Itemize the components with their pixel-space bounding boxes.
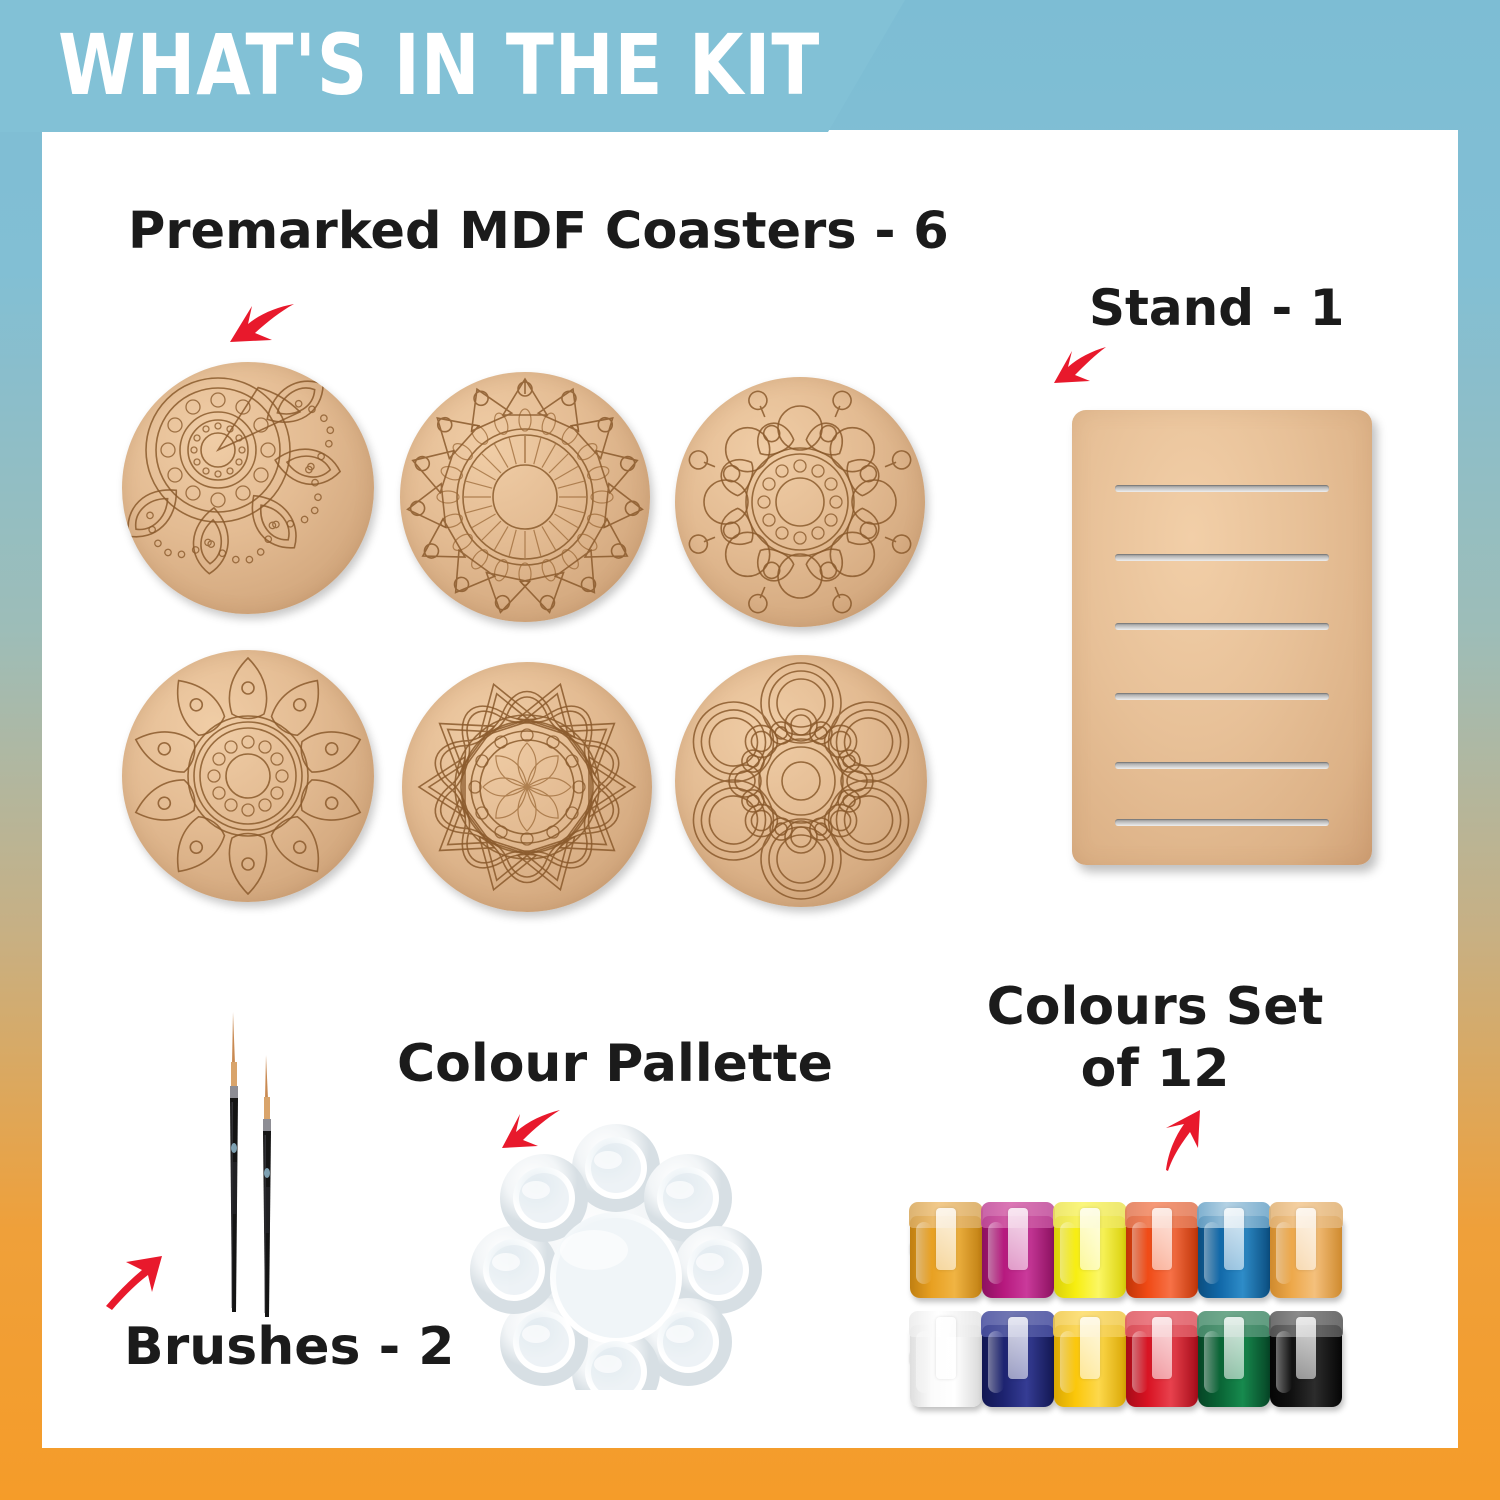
brush-item bbox=[255, 1055, 279, 1328]
pot-gloss bbox=[1132, 1331, 1148, 1393]
paint-pot-row-2 bbox=[910, 1303, 1340, 1413]
pot-tab bbox=[1080, 1317, 1100, 1379]
coaster-engraving-1 bbox=[122, 362, 374, 614]
pot-gloss bbox=[916, 1331, 932, 1393]
pot-tab bbox=[1296, 1208, 1316, 1270]
stand-slot bbox=[1115, 762, 1329, 769]
stand-arrow-icon bbox=[1050, 345, 1108, 393]
pot-tab bbox=[1224, 1208, 1244, 1270]
pot-tab bbox=[1224, 1317, 1244, 1379]
stand-slot bbox=[1115, 623, 1329, 630]
paint-pot bbox=[1270, 1311, 1342, 1407]
paint-pot bbox=[1126, 1202, 1198, 1298]
pot-gloss bbox=[1276, 1222, 1292, 1284]
brush-item bbox=[222, 1012, 246, 1325]
pot-gloss bbox=[1060, 1222, 1076, 1284]
coaster-item bbox=[400, 372, 650, 622]
pot-tab bbox=[1080, 1208, 1100, 1270]
pot-gloss bbox=[1132, 1222, 1148, 1284]
coaster-engraving-2 bbox=[400, 372, 650, 622]
brush-2-icon bbox=[255, 1055, 279, 1323]
brush-1-icon bbox=[222, 1012, 246, 1320]
coasters-arrow-icon bbox=[222, 300, 296, 354]
pot-gloss bbox=[988, 1222, 1004, 1284]
palette-label: Colour Pallette bbox=[397, 1037, 833, 1092]
stand-slot bbox=[1115, 485, 1329, 492]
colours-label-line1: Colours Set bbox=[985, 980, 1325, 1035]
pot-gloss bbox=[1060, 1331, 1076, 1393]
coaster-item bbox=[122, 650, 374, 902]
paint-pot bbox=[1054, 1311, 1126, 1407]
stand-label: Stand - 1 bbox=[1089, 282, 1344, 335]
pot-gloss bbox=[1204, 1222, 1220, 1284]
header-banner: WHAT'S IN THE KIT bbox=[0, 0, 905, 132]
paint-pot bbox=[982, 1202, 1054, 1298]
poster-root: WHAT'S IN THE KIT Premarked MDF Coasters… bbox=[0, 0, 1500, 1500]
colours-label-line2: of 12 bbox=[985, 1042, 1325, 1097]
page-title: WHAT'S IN THE KIT bbox=[58, 16, 820, 114]
coaster-item bbox=[122, 362, 374, 614]
pot-gloss bbox=[1204, 1331, 1220, 1393]
pot-tab bbox=[1296, 1317, 1316, 1379]
paint-pot bbox=[1126, 1311, 1198, 1407]
pot-gloss bbox=[988, 1331, 1004, 1393]
paint-pot bbox=[1198, 1202, 1270, 1298]
pot-gloss bbox=[916, 1222, 932, 1284]
paint-pot-row-1 bbox=[910, 1194, 1340, 1304]
paint-pot bbox=[1270, 1202, 1342, 1298]
paint-pot bbox=[910, 1311, 982, 1407]
colour-palette bbox=[466, 1120, 766, 1395]
brushes-arrow-icon bbox=[102, 1254, 164, 1310]
paint-pot bbox=[910, 1202, 982, 1298]
pot-tab bbox=[936, 1317, 956, 1379]
pot-tab bbox=[1152, 1208, 1172, 1270]
brushes-label: Brushes - 2 bbox=[124, 1320, 454, 1375]
stand-slot bbox=[1115, 819, 1329, 826]
stand-slot bbox=[1115, 693, 1329, 700]
pot-tab bbox=[1008, 1317, 1028, 1379]
coaster-item bbox=[675, 377, 925, 627]
stand-slot bbox=[1115, 554, 1329, 561]
coaster-item bbox=[675, 655, 927, 907]
coaster-engraving-4 bbox=[122, 650, 374, 902]
coaster-stand bbox=[1072, 410, 1372, 865]
pot-tab bbox=[936, 1208, 956, 1270]
pot-tab bbox=[1008, 1208, 1028, 1270]
coaster-item bbox=[402, 662, 652, 912]
pot-gloss bbox=[1276, 1331, 1292, 1393]
coaster-engraving-3 bbox=[675, 377, 925, 627]
coaster-engraving-6 bbox=[675, 655, 927, 907]
palette-icon bbox=[466, 1120, 766, 1390]
pot-tab bbox=[1152, 1317, 1172, 1379]
paint-pot bbox=[982, 1311, 1054, 1407]
coaster-engraving-5 bbox=[402, 662, 652, 912]
coasters-label: Premarked MDF Coasters - 6 bbox=[128, 205, 949, 259]
colours-arrow-icon bbox=[1152, 1108, 1214, 1172]
paint-pot bbox=[1198, 1311, 1270, 1407]
paint-pot bbox=[1054, 1202, 1126, 1298]
